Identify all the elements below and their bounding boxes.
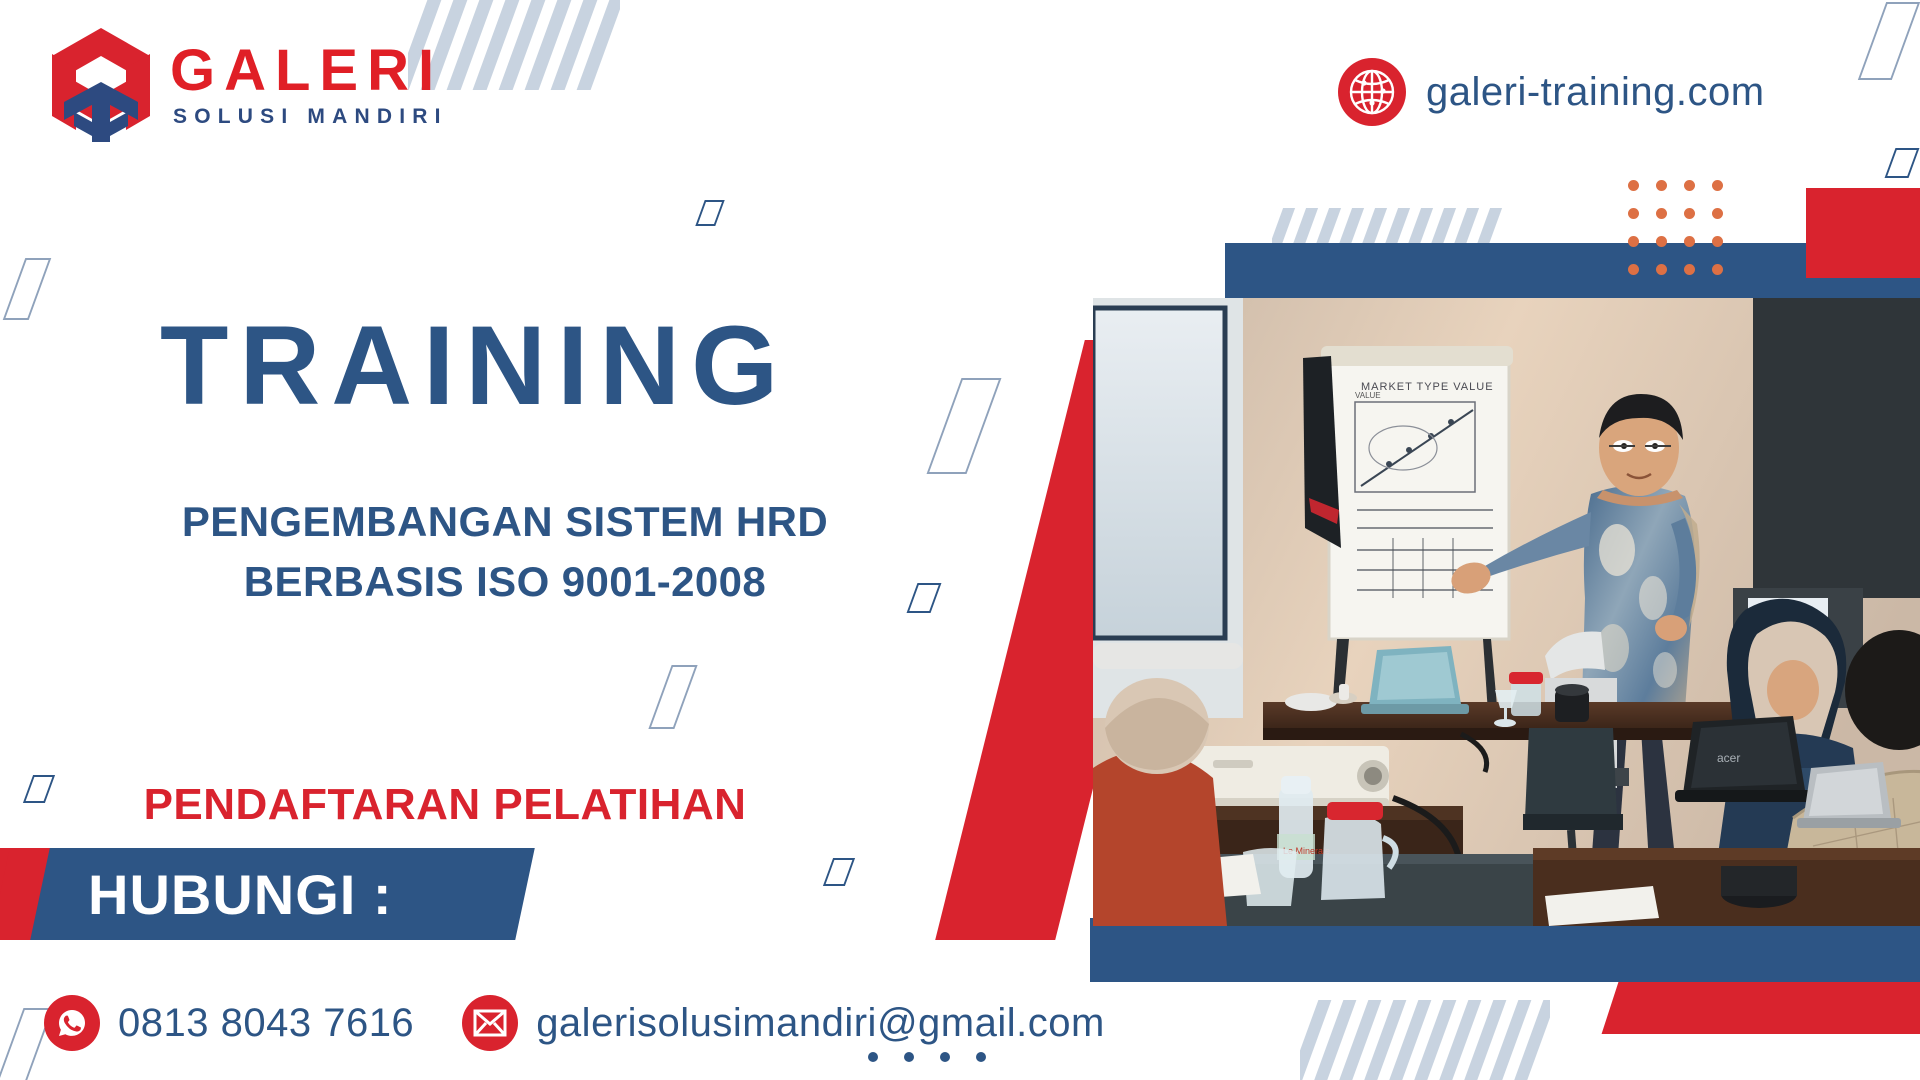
logo-subtitle: SOLUSI MANDIRI xyxy=(173,106,448,127)
registration-heading: PENDAFTARAN PELATIHAN xyxy=(0,780,890,830)
email-address: galerisolusimandiri@gmail.com xyxy=(536,1001,1105,1046)
blue-band-bottom xyxy=(1090,918,1920,982)
decorative-stripes-upper-right xyxy=(1272,208,1512,258)
svg-text:MARKET TYPE VALUE: MARKET TYPE VALUE xyxy=(1361,381,1494,393)
svg-text:VALUE: VALUE xyxy=(1355,391,1381,400)
hubungi-label: HUBUNGI : xyxy=(88,862,393,927)
red-band-bottom-right xyxy=(1602,982,1920,1034)
page-title: TRAINING xyxy=(160,310,789,422)
galeri-hexagon-logo-icon xyxy=(46,24,156,144)
phone-number: 0813 8043 7616 xyxy=(118,1001,414,1046)
classroom-photo-illustration: MARKET TYPE VALUE VALUE xyxy=(1093,298,1920,926)
decorative-parallelogram-1 xyxy=(695,200,724,226)
whatsapp-icon xyxy=(44,995,100,1051)
subtitle-line-2: BERBASIS ISO 9001-2008 xyxy=(0,558,1010,606)
decorative-stripes-bottom xyxy=(1300,1000,1550,1080)
decorative-parallelogram-5 xyxy=(648,665,697,729)
logo-title: GALERI xyxy=(170,42,448,100)
decorative-dots-under-email xyxy=(868,1052,986,1062)
brand-logo[interactable]: GALERI SOLUSI MANDIRI xyxy=(46,24,448,144)
subtitle-line-1: PENGEMBANGAN SISTEM HRD xyxy=(0,498,1010,546)
decorative-parallelogram-7 xyxy=(823,858,855,886)
decorative-dot-grid xyxy=(1628,180,1740,292)
decorative-parallelogram-2 xyxy=(3,258,52,320)
svg-text:acer: acer xyxy=(1717,751,1740,765)
decorative-parallelogram-8 xyxy=(1858,2,1920,80)
decorative-parallelogram-3 xyxy=(927,378,1002,474)
contact-whatsapp[interactable]: 0813 8043 7616 xyxy=(44,995,414,1051)
red-block-top-right xyxy=(1806,188,1920,278)
globe-icon xyxy=(1338,58,1406,126)
website-url: galeri-training.com xyxy=(1426,70,1765,115)
contact-row: 0813 8043 7616 galerisolusimandiri@gmail… xyxy=(44,995,1105,1051)
decorative-parallelogram-9 xyxy=(1885,148,1920,178)
envelope-icon xyxy=(462,995,518,1051)
contact-email[interactable]: galerisolusimandiri@gmail.com xyxy=(462,995,1105,1051)
training-promo-banner: MARKET TYPE VALUE VALUE xyxy=(0,0,1920,1080)
website-link[interactable]: galeri-training.com xyxy=(1338,58,1765,126)
training-classroom-photo: MARKET TYPE VALUE VALUE xyxy=(1093,298,1920,926)
